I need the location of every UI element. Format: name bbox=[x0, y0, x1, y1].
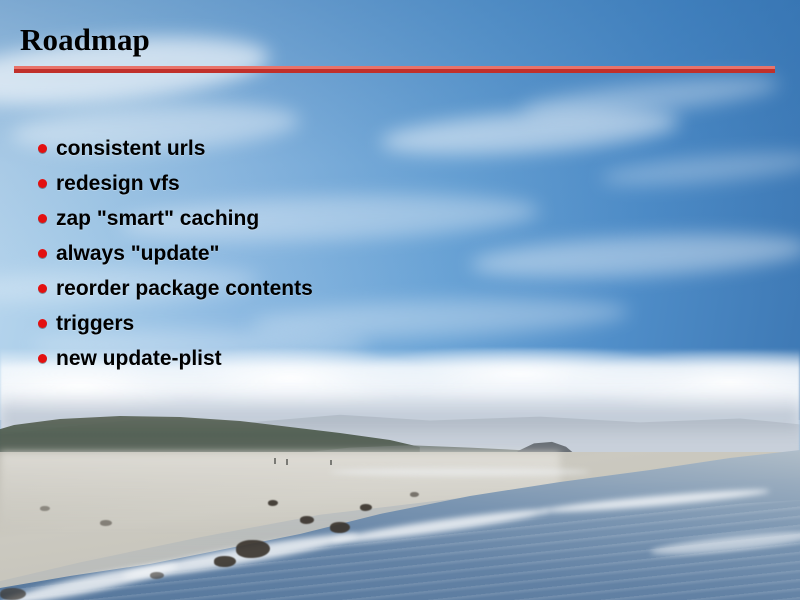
presentation-slide: Roadmap consistent urls redesign vfs zap… bbox=[0, 0, 800, 600]
bullet-list: consistent urls redesign vfs zap "smart"… bbox=[38, 131, 738, 376]
slide-title: Roadmap bbox=[20, 22, 150, 58]
list-item-label: redesign vfs bbox=[56, 172, 180, 196]
title-divider-shadow bbox=[14, 69, 775, 73]
bullet-dot-icon bbox=[38, 354, 47, 363]
list-item: new update-plist bbox=[38, 341, 738, 376]
bullet-dot-icon bbox=[38, 284, 47, 293]
list-item-label: zap "smart" caching bbox=[56, 207, 259, 231]
distant-figure bbox=[274, 458, 276, 464]
distant-figure bbox=[286, 459, 288, 465]
list-item: consistent urls bbox=[38, 131, 738, 166]
list-item: redesign vfs bbox=[38, 166, 738, 201]
list-item-label: triggers bbox=[56, 312, 134, 336]
bullet-dot-icon bbox=[38, 144, 47, 153]
list-item: always "update" bbox=[38, 236, 738, 271]
surf-foam bbox=[330, 468, 590, 476]
bullet-dot-icon bbox=[38, 214, 47, 223]
list-item-label: consistent urls bbox=[56, 137, 205, 161]
list-item: reorder package contents bbox=[38, 271, 738, 306]
list-item-label: new update-plist bbox=[56, 347, 222, 371]
list-item-label: reorder package contents bbox=[56, 277, 313, 301]
bullet-dot-icon bbox=[38, 179, 47, 188]
list-item-label: always "update" bbox=[56, 242, 219, 266]
bullet-dot-icon bbox=[38, 249, 47, 258]
bullet-dot-icon bbox=[38, 319, 47, 328]
list-item: triggers bbox=[38, 306, 738, 341]
list-item: zap "smart" caching bbox=[38, 201, 738, 236]
distant-figure bbox=[330, 460, 332, 465]
title-divider bbox=[14, 66, 775, 73]
